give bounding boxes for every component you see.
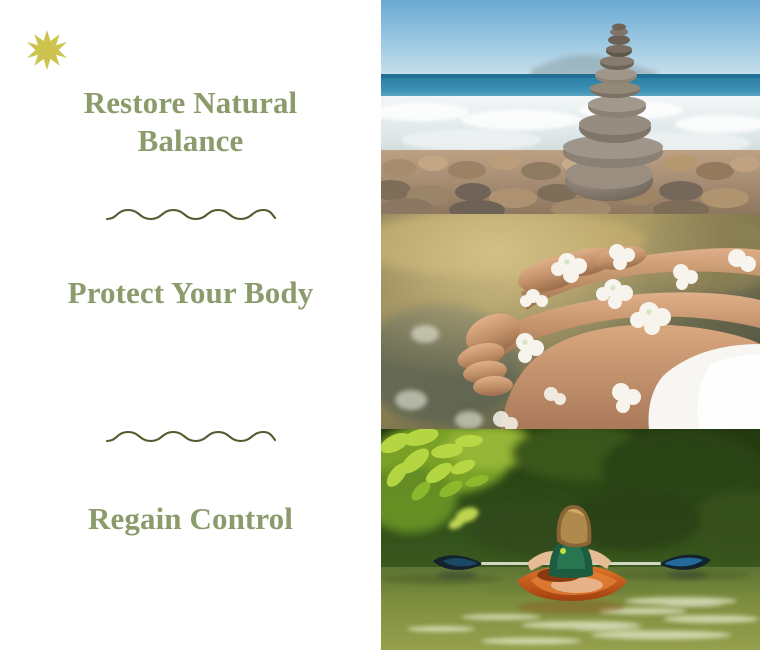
feature-item-regain-control: Regain Control (0, 500, 381, 538)
feature-title: Restore Natural Balance (0, 84, 381, 160)
feature-item-protect-your-body: Protect Your Body (0, 274, 381, 312)
image-stack (381, 0, 760, 650)
wavy-divider (0, 422, 381, 452)
feature-title: Regain Control (0, 500, 381, 538)
photo-hands-with-white-flowers (381, 214, 760, 429)
photo-woman-kayaking-river (381, 429, 760, 650)
left-content-panel: Restore Natural Balance Protect Your Bod… (0, 0, 381, 650)
feature-item-restore-natural-balance: Restore Natural Balance (0, 84, 381, 160)
wellness-benefits-panel: Restore Natural Balance Protect Your Bod… (0, 0, 760, 650)
photo-zen-stone-cairn-beach (381, 0, 760, 214)
wavy-divider (0, 200, 381, 230)
feature-title: Protect Your Body (0, 274, 381, 312)
feature-list: Restore Natural Balance Protect Your Bod… (0, 0, 381, 650)
